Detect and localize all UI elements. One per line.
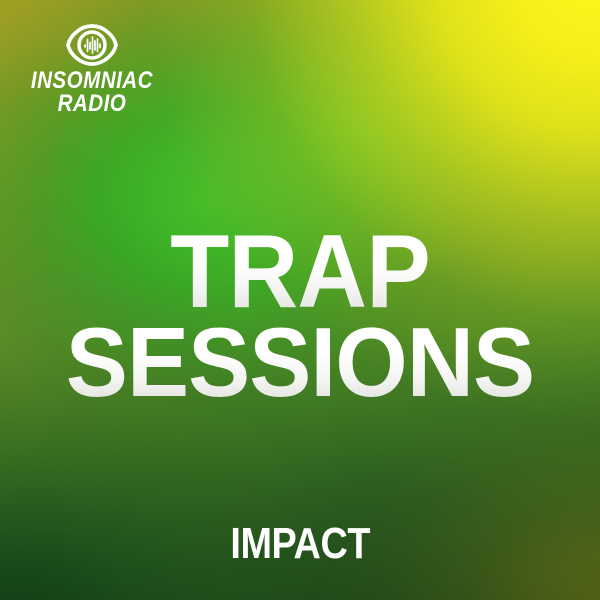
podcast-cover-artwork: INSOMNIAC RADIO TRAP SESSIONS IMPACT xyxy=(0,0,600,600)
insomniac-radio-wordmark: INSOMNIAC RADIO xyxy=(21,70,163,116)
logo-line-radio: RADIO xyxy=(58,93,127,115)
insomniac-eye-waveform-icon xyxy=(66,24,118,66)
logo-line-insomniac: INSOMNIAC xyxy=(31,70,153,92)
show-title: TRAP SESSIONS xyxy=(0,222,600,410)
insomniac-radio-logo: INSOMNIAC RADIO xyxy=(17,24,167,116)
footer-brand: IMPACT xyxy=(0,522,600,566)
footer-brand-impact: IMPACT xyxy=(230,522,370,566)
title-line-sessions: SESSIONS xyxy=(15,315,585,410)
